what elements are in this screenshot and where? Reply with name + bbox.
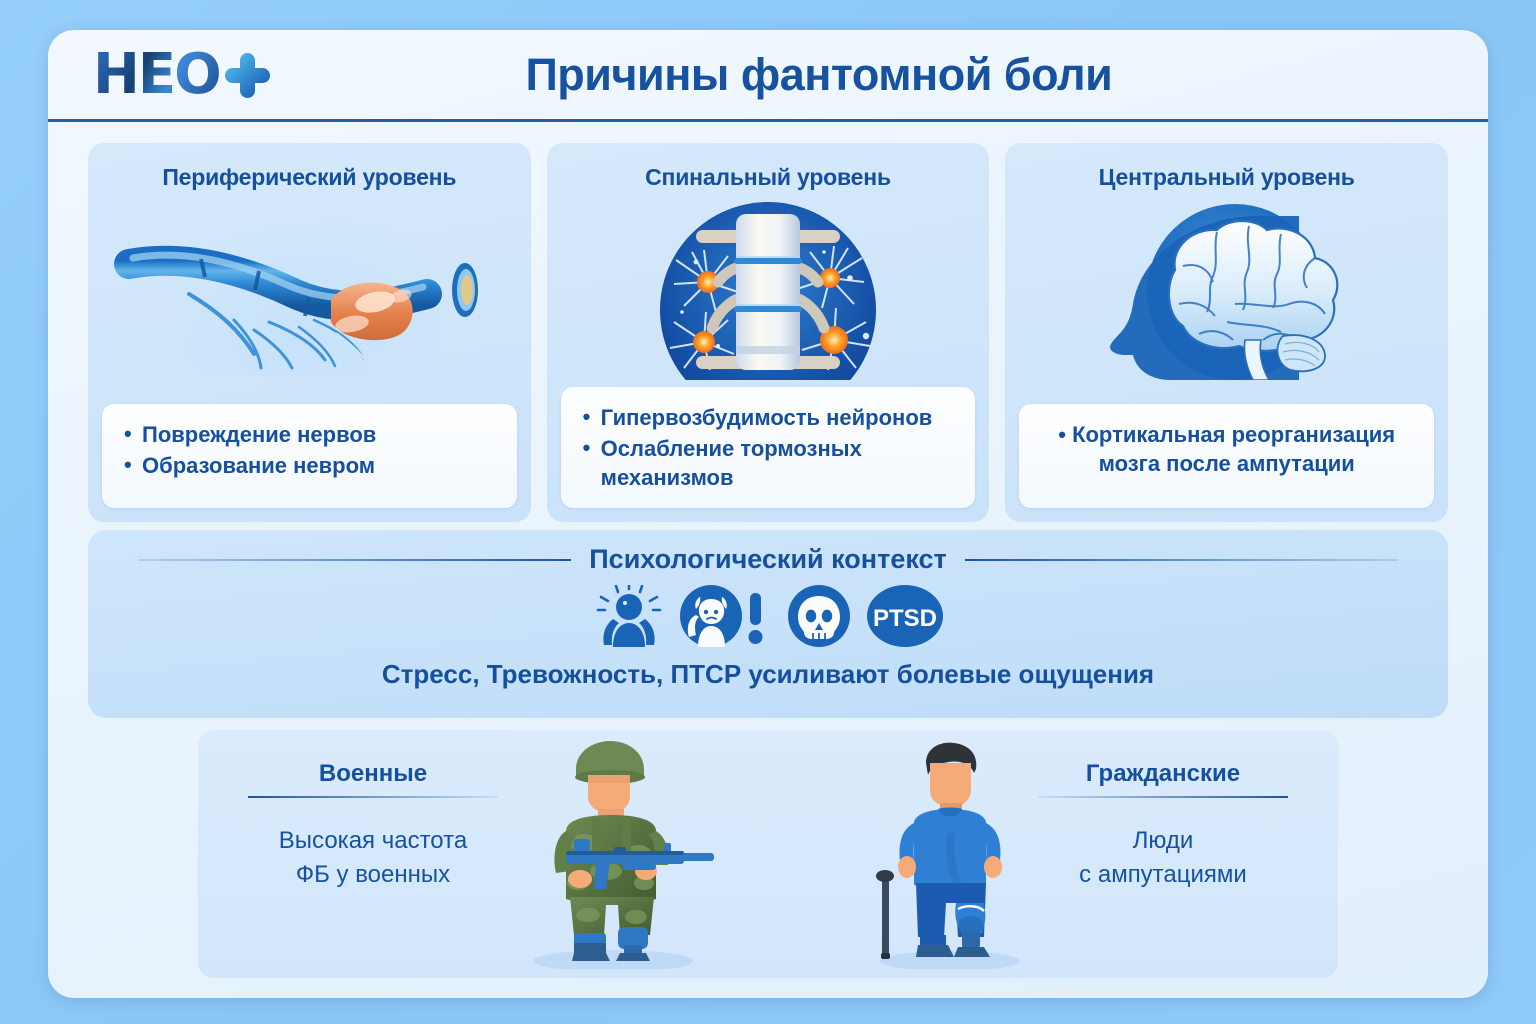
page-title: Причины фантомной боли [270, 49, 1368, 101]
psychological-icon-row: PTSD [88, 583, 1448, 649]
group-header-civilian: Гражданские [1038, 760, 1338, 798]
list-item: Ослабление тормозных механизмов [581, 434, 962, 492]
group-panel-military: Военные Высокая частота ФБ у военных [198, 730, 768, 978]
group-header-military: Военные [198, 760, 498, 798]
civilian-with-cane-and-prosthetic-leg-illustration [858, 737, 1038, 974]
group-title-civilian: Гражданские [1038, 760, 1288, 788]
ptsd-badge-icon: PTSD [866, 585, 944, 647]
list-item: Повреждение нервов [122, 420, 503, 449]
bullet-list-spinal: Гипервозбудимость нейронов Ослабление то… [561, 387, 976, 508]
level-card-peripheral: Периферический уровень [88, 142, 531, 522]
list-item: Гипервозбудимость нейронов [581, 403, 962, 432]
header: HEO Причины фантомной боли [48, 30, 1488, 122]
spinal-cord-neurons-illustration [547, 197, 990, 382]
list-item: Кортикальная реорганизация мозга после а… [1033, 420, 1420, 478]
group-text-line2: ФБ у военных [248, 858, 498, 892]
group-title-military: Военные [248, 760, 498, 788]
skull-icon [786, 585, 852, 647]
group-body-civilian: Люди с ампутациями [1038, 824, 1338, 892]
psychological-context-panel: Психологический контекст [88, 530, 1448, 718]
brain-head-illustration [1005, 197, 1448, 382]
group-text-line1: Люди [1038, 824, 1288, 858]
page-card: HEO Причины фантомной боли Периферически… [48, 30, 1488, 998]
psychological-context-header: Психологический контекст [88, 544, 1448, 575]
bullet-list-central: Кортикальная реорганизация мозга после а… [1019, 404, 1434, 508]
brand-logo: HEO [93, 46, 270, 104]
divider-right [965, 559, 1398, 561]
level-title-central: Центральный уровень [1005, 164, 1448, 191]
level-title-spinal: Спинальный уровень [547, 164, 990, 191]
levels-row: Периферический уровень [88, 142, 1448, 522]
damaged-nerve-neuroma-illustration [88, 197, 531, 382]
anxious-person-exclamation-icon [680, 585, 772, 647]
stressed-person-icon [592, 585, 666, 647]
psychological-context-caption: Стресс, Тревожность, ПТСР усиливают боле… [88, 659, 1448, 690]
group-text-line1: Высокая частота [248, 824, 498, 858]
group-divider-civilian [1038, 796, 1288, 798]
psychological-context-title: Психологический контекст [589, 544, 946, 575]
plus-icon [224, 52, 270, 98]
group-divider-military [248, 796, 498, 798]
bullet-list-peripheral: Повреждение нервов Образование невром [102, 404, 517, 508]
ptsd-label: PTSD [873, 605, 937, 632]
infographic-canvas: HEO Причины фантомной боли Периферически… [0, 0, 1536, 1024]
level-card-central: Центральный уровень [1005, 142, 1448, 522]
group-body-military: Высокая частота ФБ у военных [198, 824, 498, 892]
list-item: Образование невром [122, 451, 503, 480]
level-title-peripheral: Периферический уровень [88, 164, 531, 191]
soldier-with-prosthetic-leg-illustration [518, 739, 728, 974]
brand-name: HEO [93, 47, 220, 103]
level-card-spinal: Спинальный уровень [547, 142, 990, 522]
group-text-line2: с ампутациями [1038, 858, 1288, 892]
groups-row: Военные Высокая частота ФБ у военных [198, 730, 1338, 978]
divider-left [138, 559, 571, 561]
group-panel-civilian: Гражданские Люди с ампутациями [768, 730, 1338, 978]
